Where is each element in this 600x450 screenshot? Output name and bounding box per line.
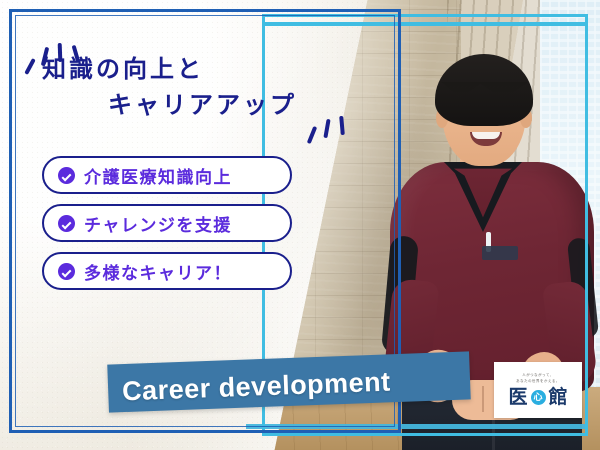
logo-wordmark: 医 心 館 <box>508 388 567 407</box>
page-title: 知識の向上と キャリアアップ <box>42 52 342 124</box>
logo-kanji-left: 医 <box>508 388 527 407</box>
check-circle-icon <box>58 263 75 280</box>
feature-pill-3[interactable]: 多様なキャリア！ <box>42 252 292 290</box>
check-circle-icon <box>58 215 75 232</box>
feature-pill-label: チャレンジを支援 <box>84 211 232 236</box>
feature-pill-1[interactable]: 介護医療知識向上 <box>42 156 292 194</box>
feature-pill-label: 多様なキャリア！ <box>84 259 232 284</box>
feature-pill-label: 介護医療知識向上 <box>84 163 232 188</box>
headline-line-2: キャリアアップ <box>108 88 342 124</box>
logo-tagline-line-2: あなたの世界をかえる。 <box>516 379 560 384</box>
check-circle-icon <box>58 167 75 184</box>
feature-list: 介護医療知識向上 チャレンジを支援 多様なキャリア！ <box>42 156 292 300</box>
logo-mark-glyph: 心 <box>533 393 542 402</box>
headline-line-1: 知識の向上と <box>42 56 204 83</box>
poster-canvas: 知識の向上と キャリアアップ 介護医療知識向上 チャレンジを支援 多様なキャリア… <box>0 0 600 450</box>
logo-kanji-right: 館 <box>549 388 568 407</box>
brand-logo[interactable]: 人がつながって、 あなたの世界をかえる。 医 心 館 <box>494 362 582 418</box>
feature-pill-2[interactable]: チャレンジを支援 <box>42 204 292 242</box>
logo-circle-mark-icon: 心 <box>531 390 546 405</box>
